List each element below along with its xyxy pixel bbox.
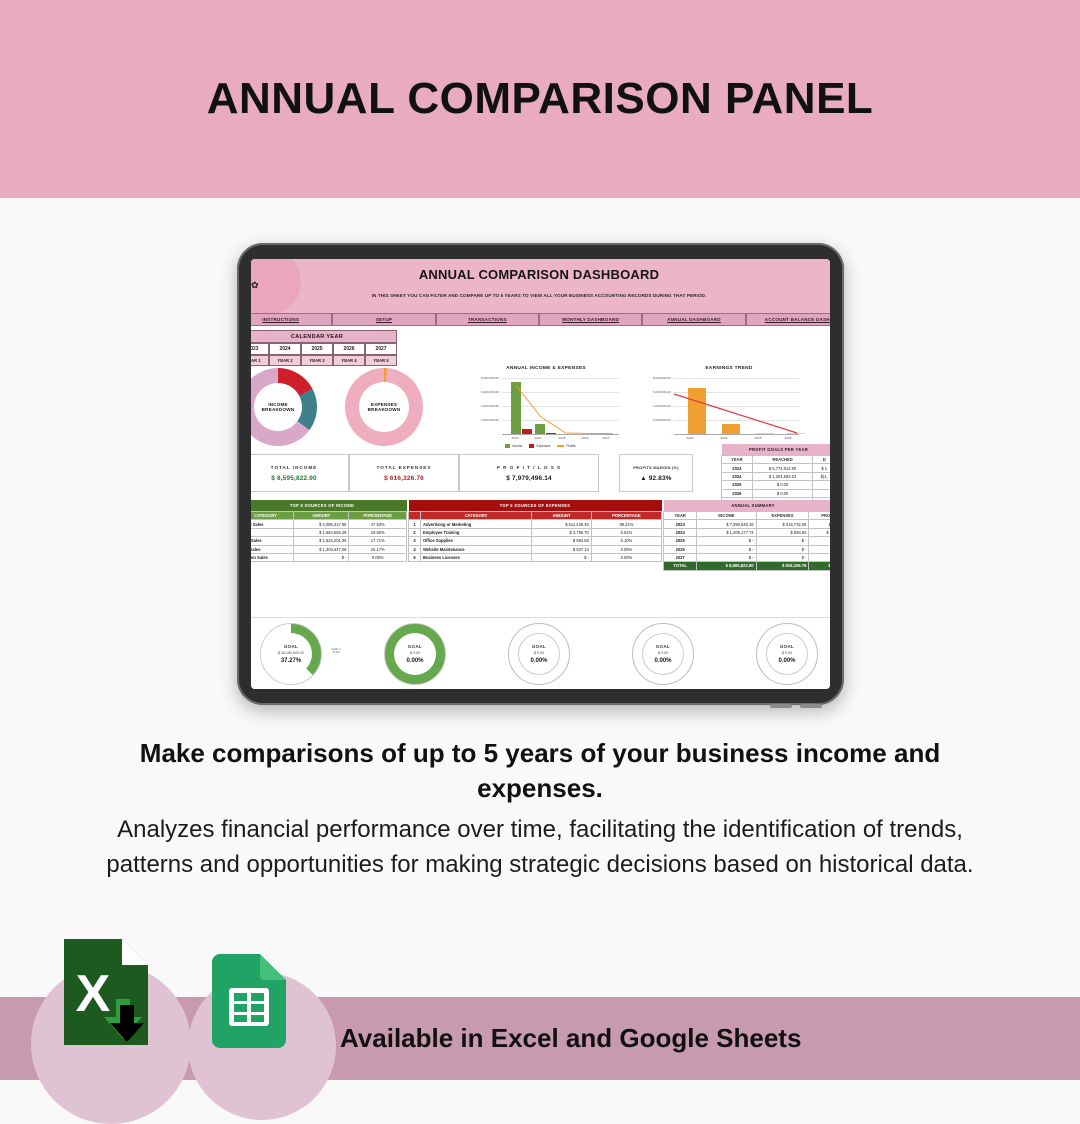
- tab-annual-dashboard[interactable]: ANNUAL DASHBOARD: [642, 313, 745, 326]
- x-tick-2027: 2027: [595, 436, 617, 440]
- profit-goals-banner: PROFIT GOALS PER YEAR: [722, 444, 831, 456]
- goal-gauge-5-amount: $ 0.00: [782, 651, 792, 655]
- as-income-2027: $ -: [697, 553, 756, 561]
- te-rank-1: 1: [409, 520, 421, 528]
- ti-category-1: Direct Sales: [251, 520, 294, 528]
- expenses-donut-label: EXPENSES BREAKDOWN: [359, 382, 409, 432]
- pg-reached-2026: $ 0.00: [752, 489, 813, 497]
- goal-gauge-3-pct: 0.00%: [530, 658, 547, 664]
- as-profit-2024: $ 1,204: [809, 528, 830, 536]
- dashboard-header: ✿ ANNUAL COMPARISON DASHBOARD IN THIS SH…: [251, 259, 830, 313]
- legend-expenses: Expenses: [529, 444, 550, 448]
- table-row: 2025 $ 0.00: [722, 481, 831, 489]
- table-row: 2026 $ 0.00: [722, 489, 831, 497]
- ti-category-4: Etsy Sales: [251, 545, 294, 553]
- goal-gauge-3: GOAL $ 0.00 0.00%: [508, 623, 570, 685]
- year-label-3: YEAR 3: [301, 355, 333, 366]
- profit-loss-value: $ 7,979,496.14: [506, 475, 551, 482]
- flower-logo-icon: ✿: [251, 281, 259, 290]
- ti-category-2: [251, 528, 294, 536]
- te-amount-3: $ 594.50: [532, 537, 592, 545]
- top-banner: ANNUAL COMPARISON PANEL: [0, 0, 1080, 198]
- goal-gauge-2-label: GOAL: [408, 644, 422, 649]
- goal-gauge-2-pct: 0.00%: [406, 658, 423, 664]
- table-row: 3 Office Supplies $ 594.50 0.10%: [409, 537, 662, 545]
- table-row: 2025 $ - $ - $ -: [664, 537, 831, 545]
- table-row: Direct Sales $ 4,085,317.98 47.53%: [251, 520, 407, 528]
- year-cell-2025[interactable]: 2025: [301, 343, 333, 355]
- svg-text:X: X: [76, 965, 111, 1023]
- as-total-expenses: $ 616,326.76: [756, 562, 809, 570]
- pg-year-2026: 2026: [722, 489, 753, 497]
- top-income-banner: TOP 5 SOURCES OF INCOME: [251, 500, 407, 512]
- dashboard-nav-tabs[interactable]: INSTRUCTIONS SETUP TRANSACTIONS MONTHLY …: [251, 313, 830, 326]
- table-row: Etsy Sales $ 1,303,647.28 15.17%: [251, 545, 407, 553]
- te-pct-5: 0.00%: [591, 553, 661, 561]
- annual-summary-total-row: TOTAL $ 8,595,822.90 $ 616,326.76 $ 7,97: [664, 562, 831, 570]
- as-profit-2025: $ -: [809, 537, 830, 545]
- te-pct-1: 99.21%: [591, 520, 661, 528]
- as-expenses-2023: $ 615,732.26: [756, 520, 809, 528]
- te-rank-3: 3: [409, 537, 421, 545]
- goal-mini-pct: 37.3%: [332, 651, 339, 654]
- profit-goals-header-row: YEAR REACHED D: [722, 456, 831, 464]
- goal-gauge-2-amount: $ 0.00: [410, 651, 420, 655]
- x-tick-2025: 2025: [551, 436, 573, 440]
- profit-margin-value: ▲ 92.83%: [640, 475, 671, 482]
- table-row: 2023 $ 6,774,912.90 $ 1: [722, 464, 831, 472]
- annual-summary-header-row: YEAR INCOME EXPENSES PRO: [664, 512, 831, 520]
- chart1-legend: Income Expenses Profits: [505, 444, 576, 448]
- te-header-rank: [409, 512, 421, 520]
- top-income-header-row: CATEGORY AMOUNT PORCENTAGE: [251, 512, 407, 520]
- table-row: 2023 $ 7,390,645.16 $ 615,732.26 $ 6,77: [664, 520, 831, 528]
- as-total-profit: $ 7,97: [809, 562, 830, 570]
- top-expenses-header-row: CATEGORY AMOUNT PORCENTAGE: [409, 512, 662, 520]
- year-label-1: YEAR 1: [251, 355, 269, 366]
- as-income-2026: $ -: [697, 545, 756, 553]
- chart2-plot-area: [674, 378, 799, 434]
- dashboard-subtitle: IN THIS SHEET YOU CAN FILTER AND COMPARE…: [251, 293, 830, 298]
- dashboard-body: CALENDAR YEAR 2023 2024 2025 2026 2027 Y…: [251, 326, 830, 334]
- goal-gauge-5-pct: 0.00%: [778, 658, 795, 664]
- table-row: 2026 $ - $ - $ -: [664, 545, 831, 553]
- y-tick-3: 2,000,000.00: [471, 418, 499, 422]
- table-row: 2024 $ 1,204,583.24 $(1,: [722, 472, 831, 480]
- year-cell-2023[interactable]: 2023: [251, 343, 269, 355]
- y-tick-1: 6,000,000.00: [471, 390, 499, 394]
- as-total-income: $ 8,595,822.90: [697, 562, 756, 570]
- trend-x-tick-2023: 2023: [677, 436, 703, 440]
- year-cell-2024[interactable]: 2024: [269, 343, 301, 355]
- profit-loss-card: P R O F I T / L O S S $ 7,979,496.14: [459, 454, 599, 492]
- te-amount-2: $ 3,759.70: [532, 528, 592, 536]
- table-row: 1 Advertising or Marketing $ 611,435.46 …: [409, 520, 662, 528]
- top-expenses-table: TOP 5 SOURCES OF EXPENSES CATEGORY AMOUN…: [408, 500, 662, 562]
- annual-income-expenses-chart: 8,000,000.00 6,000,000.00 4,000,000.00 2…: [471, 378, 621, 450]
- earnings-trend-chart-title: EARNINGS TREND: [659, 366, 799, 371]
- as-year-2023: 2023: [664, 520, 697, 528]
- goal-gauge-2: GOAL $ 0.00 0.00%: [384, 623, 446, 685]
- pg-header-reached: REACHED: [752, 456, 813, 464]
- table-row: $ 1,684,656.28 19.60%: [251, 528, 407, 536]
- te-amount-4: $ 537.10: [532, 545, 592, 553]
- pg-header-diff: D: [813, 456, 830, 464]
- pg-extra-2024: $(1,: [813, 472, 830, 480]
- as-profit-2026: $ -: [809, 545, 830, 553]
- footer-bar: Available in Excel and Google Sheets: [0, 997, 1080, 1080]
- goal-gauge-1: GOAL $ 18,180,600.00 37.27% GOAL 1 37.3%: [260, 623, 322, 685]
- as-header-income: INCOME: [697, 512, 756, 520]
- te-header-pct: PORCENTAGE: [591, 512, 661, 520]
- total-expenses-value: $ 616,326.76: [384, 475, 424, 482]
- spreadsheet-dashboard: ✿ ANNUAL COMPARISON DASHBOARD IN THIS SH…: [251, 259, 830, 689]
- goal-gauge-1-inner: GOAL $ 18,180,600.00 37.27%: [270, 633, 312, 675]
- goal-gauge-1-amount: $ 18,180,600.00: [278, 651, 304, 655]
- calendar-year-values-row: 2023 2024 2025 2026 2027: [251, 343, 397, 355]
- table-row: 2 Employee Training $ 3,759.70 0.61%: [409, 528, 662, 536]
- te-rank-5: 5: [409, 553, 421, 561]
- goal-gauge-3-label: GOAL: [532, 644, 546, 649]
- y-tick-4: -: [471, 432, 499, 436]
- as-year-2024: 2024: [664, 528, 697, 536]
- pg-reached-2023: $ 6,774,912.90: [752, 464, 813, 472]
- as-header-year: YEAR: [664, 512, 697, 520]
- goal-gauge-2-inner: GOAL $ 0.00 0.00%: [394, 633, 436, 675]
- te-header-category: CATEGORY: [421, 512, 532, 520]
- legend-income-label: Income: [512, 444, 522, 448]
- tablet-screen: ✿ ANNUAL COMPARISON DASHBOARD IN THIS SH…: [251, 259, 830, 689]
- earnings-trendline: [674, 378, 799, 434]
- trend-y-tick-2: 4,000,000.00: [643, 404, 671, 408]
- goal-gauge-4-label: GOAL: [656, 644, 670, 649]
- table-row: 4 Website Maintenance $ 537.10 0.09%: [409, 545, 662, 553]
- as-year-2025: 2025: [664, 537, 697, 545]
- x-tick-2024: 2024: [527, 436, 549, 440]
- legend-income: Income: [505, 444, 522, 448]
- y-tick-2: 4,000,000.00: [471, 404, 499, 408]
- tab-instructions[interactable]: INSTRUCTIONS: [251, 313, 332, 326]
- as-year-2026: 2026: [664, 545, 697, 553]
- table-row: 2027 $ - $ - $ -: [664, 553, 831, 561]
- trend-x-tick-2026: 2026: [775, 436, 801, 440]
- top-income-table: TOP 5 SOURCES OF INCOME CATEGORY AMOUNT …: [251, 500, 407, 562]
- top-income-banner-row: TOP 5 SOURCES OF INCOME: [251, 500, 407, 512]
- google-sheets-icon: [212, 954, 286, 1048]
- pg-extra-2026: [813, 489, 830, 497]
- total-income-card: TOTAL INCOME $ 8,595,822.90: [251, 454, 349, 492]
- trend-x-tick-2025: 2025: [745, 436, 771, 440]
- calendar-year-selector[interactable]: CALENDAR YEAR 2023 2024 2025 2026 2027 Y…: [251, 330, 397, 366]
- as-expenses-2026: $ -: [756, 545, 809, 553]
- description-headline: Make comparisons of up to 5 years of you…: [90, 736, 990, 805]
- income-breakdown-donut: INCOME BREAKDOWN: [251, 368, 317, 446]
- te-rank-2: 2: [409, 528, 421, 536]
- goal-gauges-strip: GOAL $ 18,180,600.00 37.27% GOAL 1 37.3%…: [251, 617, 830, 689]
- ti-pct-1: 47.53%: [349, 520, 407, 528]
- ti-header-pct: PORCENTAGE: [349, 512, 407, 520]
- legend-expenses-swatch: [529, 444, 534, 448]
- tab-monthly-dashboard[interactable]: MONTHLY DASHBOARD: [539, 313, 642, 326]
- legend-income-swatch: [505, 444, 510, 448]
- ti-pct-5: 0.00%: [349, 553, 407, 561]
- as-income-2025: $ -: [697, 537, 756, 545]
- as-expenses-2025: $ -: [756, 537, 809, 545]
- pg-year-2025: 2025: [722, 481, 753, 489]
- year-cell-2026[interactable]: 2026: [333, 343, 365, 355]
- footer-availability-text: Available in Excel and Google Sheets: [340, 1023, 801, 1054]
- page-title: ANNUAL COMPARISON PANEL: [207, 74, 874, 124]
- description-body: Analyzes financial performance over time…: [90, 813, 990, 883]
- ti-category-5: Amazon Sales: [251, 553, 294, 561]
- x-tick-2023: 2023: [504, 436, 526, 440]
- profit-goals-table: PROFIT GOALS PER YEAR YEAR REACHED D 202…: [721, 444, 830, 506]
- goal-gauge-5-label: GOAL: [780, 644, 794, 649]
- legend-profits-swatch: [557, 445, 564, 446]
- description-block: Make comparisons of up to 5 years of you…: [90, 736, 990, 883]
- te-pct-4: 0.09%: [591, 545, 661, 553]
- as-profit-2027: $ -: [809, 553, 830, 561]
- as-header-profit: PRO: [809, 512, 830, 520]
- year-label-4: YEAR 4: [333, 355, 365, 366]
- trend-y-tick-1: 6,000,000.00: [643, 390, 671, 394]
- ti-pct-2: 19.60%: [349, 528, 407, 536]
- total-expenses-card: TOTAL EXPENSES $ 616,326.76: [349, 454, 459, 492]
- as-profit-2023: $ 6,77: [809, 520, 830, 528]
- total-expenses-label: TOTAL EXPENSES: [377, 465, 432, 470]
- goal-gauge-5: GOAL $ 0.00 0.00%: [756, 623, 818, 685]
- profit-loss-label: P R O F I T / L O S S: [497, 465, 561, 470]
- te-category-4: Website Maintenance: [421, 545, 532, 553]
- profit-margin-label: PROFITS MARGIN (%): [633, 465, 679, 470]
- te-pct-2: 0.61%: [591, 528, 661, 536]
- calendar-year-labels-row: YEAR 1 YEAR 2 YEAR 3 YEAR 4 YEAR 5: [251, 355, 397, 366]
- as-expenses-2027: $ -: [756, 553, 809, 561]
- profit-margin-card: PROFITS MARGIN (%) ▲ 92.83%: [619, 454, 693, 492]
- as-total-label: TOTAL: [664, 562, 697, 570]
- ti-pct-4: 15.17%: [349, 545, 407, 553]
- pg-extra-2023: $ 1: [813, 464, 830, 472]
- tab-setup[interactable]: SETUP: [332, 313, 435, 326]
- tab-transactions[interactable]: TRANSACTIONS: [436, 313, 539, 326]
- calendar-year-title: CALENDAR YEAR: [251, 330, 397, 343]
- table-row: Amazon Sales $ - 0.00%: [251, 553, 407, 561]
- year-label-5: YEAR 5: [365, 355, 397, 366]
- goal-gauge-1-mini-label: GOAL 1 37.3%: [323, 648, 349, 654]
- goal-gauge-4: GOAL $ 0.00 0.00%: [632, 623, 694, 685]
- ti-pct-3: 17.71%: [349, 537, 407, 545]
- table-row: Ebay Sales $ 1,522,201.36 17.71%: [251, 537, 407, 545]
- income-donut-label: INCOME BREAKDOWN: [254, 383, 302, 431]
- annual-summary-banner: ANNUAL SUMMARY: [664, 500, 831, 512]
- as-year-2027: 2027: [664, 553, 697, 561]
- te-category-1: Advertising or Marketing: [421, 520, 532, 528]
- goal-gauge-3-inner: GOAL $ 0.00 0.00%: [518, 633, 560, 675]
- ti-category-3: Ebay Sales: [251, 537, 294, 545]
- legend-profits-label: Profits: [566, 444, 575, 448]
- year-label-2: YEAR 2: [269, 355, 301, 366]
- te-category-5: Business Licenses: [421, 553, 532, 561]
- chart1-plot-area: [502, 378, 619, 434]
- total-income-value: $ 8,595,822.90: [271, 475, 316, 482]
- excel-file-download-icon: X: [64, 939, 148, 1045]
- as-income-2024: $ 1,205,177.74: [697, 528, 756, 536]
- pg-reached-2025: $ 0.00: [752, 481, 813, 489]
- annual-summary-table: ANNUAL SUMMARY YEAR INCOME EXPENSES PRO …: [663, 500, 830, 571]
- earnings-trend-chart: 8,000,000.00 6,000,000.00 4,000,000.00 2…: [643, 378, 801, 444]
- goal-gauge-5-inner: GOAL $ 0.00 0.00%: [766, 633, 808, 675]
- goal-gauge-4-amount: $ 0.00: [658, 651, 668, 655]
- te-pct-3: 0.10%: [591, 537, 661, 545]
- ti-amount-1: $ 4,085,317.98: [294, 520, 349, 528]
- profit-trend-line: [502, 378, 619, 434]
- pg-reached-2024: $ 1,204,583.24: [752, 472, 813, 480]
- trend-y-tick-0: 8,000,000.00: [643, 376, 671, 380]
- tab-account-balance-dashboard[interactable]: ACCOUNT BALANCE DASH: [746, 313, 830, 326]
- te-category-3: Office Supplies: [421, 537, 532, 545]
- ti-amount-2: $ 1,684,656.28: [294, 528, 349, 536]
- tablet-speaker-grill-left: [770, 704, 792, 708]
- ti-header-category: CATEGORY: [251, 512, 294, 520]
- annual-income-expenses-chart-title: ANNUAL INCOME & EXPENSES: [471, 366, 621, 371]
- ti-amount-3: $ 1,522,201.36: [294, 537, 349, 545]
- as-income-2023: $ 7,390,645.16: [697, 520, 756, 528]
- trend-y-tick-3: 2,000,000.00: [643, 418, 671, 422]
- te-amount-1: $ 611,435.46: [532, 520, 592, 528]
- top-expenses-banner: TOP 5 SOURCES OF EXPENSES: [409, 500, 662, 512]
- goal-gauge-4-inner: GOAL $ 0.00 0.00%: [642, 633, 684, 675]
- pg-extra-2025: [813, 481, 830, 489]
- goal-gauge-4-pct: 0.00%: [654, 658, 671, 664]
- top-expenses-banner-row: TOP 5 SOURCES OF EXPENSES: [409, 500, 662, 512]
- legend-profits: Profits: [557, 444, 575, 448]
- pg-year-2024: 2024: [722, 472, 753, 480]
- total-income-label: TOTAL INCOME: [271, 465, 317, 470]
- trend-x-tick-2024: 2024: [711, 436, 737, 440]
- pg-year-2023: 2023: [722, 464, 753, 472]
- goal-gauge-1-pct: 37.27%: [281, 658, 301, 664]
- y-tick-0: 8,000,000.00: [471, 376, 499, 380]
- table-row: 5 Business Licenses $ - 0.00%: [409, 553, 662, 561]
- profit-goals-banner-row: PROFIT GOALS PER YEAR: [722, 444, 831, 456]
- te-header-amount: AMOUNT: [532, 512, 592, 520]
- te-category-2: Employee Training: [421, 528, 532, 536]
- ti-header-amount: AMOUNT: [294, 512, 349, 520]
- table-row: 2024 $ 1,205,177.74 $ 594.50 $ 1,204: [664, 528, 831, 536]
- expenses-breakdown-donut: EXPENSES BREAKDOWN: [345, 368, 423, 446]
- ti-amount-4: $ 1,303,647.28: [294, 545, 349, 553]
- goal-gauge-3-amount: $ 0.00: [534, 651, 544, 655]
- as-expenses-2024: $ 594.50: [756, 528, 809, 536]
- tablet-speaker-grill-right: [800, 704, 822, 708]
- as-header-expenses: EXPENSES: [756, 512, 809, 520]
- tablet-device-mockup: ✿ ANNUAL COMPARISON DASHBOARD IN THIS SH…: [237, 243, 844, 705]
- trend-y-tick-4: -: [643, 432, 671, 436]
- legend-expenses-label: Expenses: [536, 444, 550, 448]
- income-donut-ring: INCOME BREAKDOWN: [251, 368, 317, 446]
- ti-amount-5: $ -: [294, 553, 349, 561]
- dashboard-title: ANNUAL COMPARISON DASHBOARD: [251, 267, 830, 282]
- te-amount-5: $ -: [532, 553, 592, 561]
- annual-summary-banner-row: ANNUAL SUMMARY: [664, 500, 831, 512]
- goal-gauge-1-label: GOAL: [284, 644, 298, 649]
- expenses-donut-ring: EXPENSES BREAKDOWN: [345, 368, 423, 446]
- year-cell-2027[interactable]: 2027: [365, 343, 397, 355]
- te-rank-4: 4: [409, 545, 421, 553]
- pg-header-year: YEAR: [722, 456, 753, 464]
- x-tick-2026: 2026: [574, 436, 596, 440]
